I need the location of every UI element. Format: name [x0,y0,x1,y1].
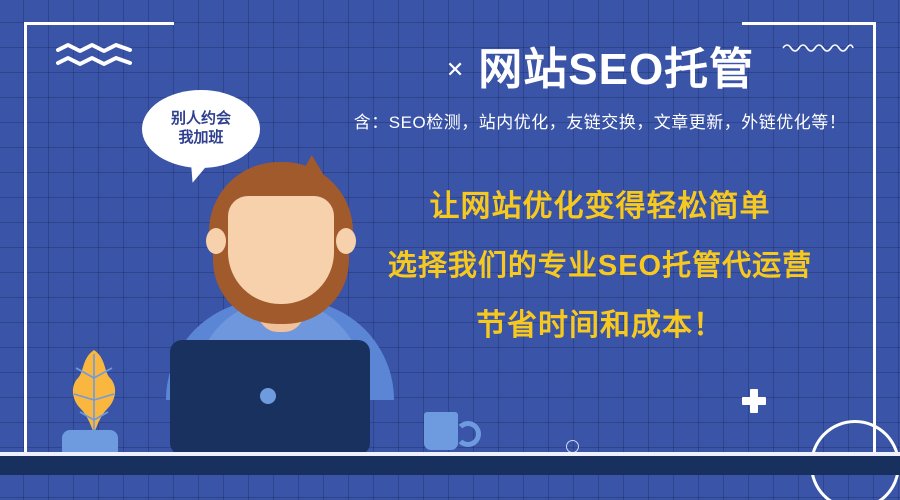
coffee-mug-handle [455,421,481,447]
frame-line-left [24,22,27,474]
page-subtitle: 含：SEO检测，站内优化，友链交换，文章更新，外链优化等！ [340,108,860,133]
slogan-line-1: 让网站优化变得轻松简单 [340,192,860,222]
laptop-logo-icon [260,388,276,404]
frame-line-top-right [742,22,876,25]
desk-edge-line [0,452,900,456]
person-ear-right [336,228,356,254]
close-icon: ✕ [446,59,464,81]
plus-icon [742,389,766,413]
desk-surface [0,455,900,475]
slogan-line-3: 节省时间和成本！ [340,311,860,341]
title-row: ✕ 网站SEO托管 [340,46,860,94]
speech-bubble-line-1: 别人约会 [171,110,231,129]
plant-leaf-icon [62,348,126,436]
seo-hosting-poster: ✕ 网站SEO托管 含：SEO检测，站内优化，友链交换，文章更新，外链优化等！ … [0,0,900,500]
headline-block: ✕ 网站SEO托管 含：SEO检测，站内优化，友链交换，文章更新，外链优化等！ [340,46,860,133]
person-ear-left [206,228,226,254]
person-mouth [256,272,306,290]
speech-bubble: 别人约会 我加班 [142,90,260,168]
coffee-mug [424,412,458,450]
double-wave-icon [56,42,132,70]
slogan-line-2: 选择我们的专业SEO托管代运营 [340,252,860,281]
frame-line-right [873,22,876,474]
speech-bubble-line-2: 我加班 [178,129,223,148]
slogan-list: 让网站优化变得轻松简单 选择我们的专业SEO托管代运营 节省时间和成本！ [340,192,860,341]
frame-line-top-left [24,22,174,25]
page-title: 网站SEO托管 [478,46,754,94]
